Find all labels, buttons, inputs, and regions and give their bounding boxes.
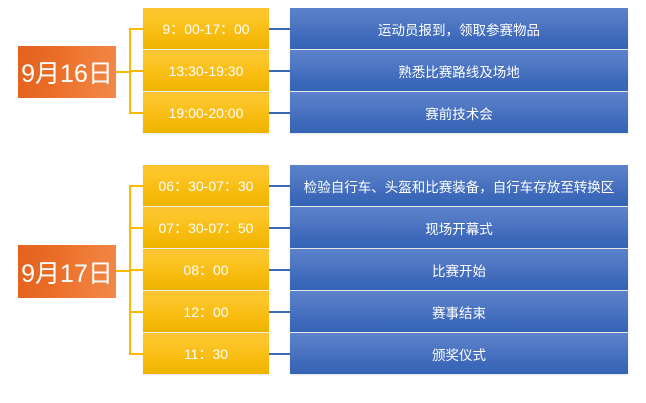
event-label: 比赛开始	[432, 260, 486, 280]
event-box[interactable]: 现场开幕式	[290, 207, 628, 248]
time-box[interactable]: 11：30	[143, 333, 269, 374]
time-label: 07：30-07：50	[159, 218, 254, 238]
event-box[interactable]: 赛事结束	[290, 291, 628, 332]
event-box[interactable]: 比赛开始	[290, 249, 628, 290]
time-label: 9：00-17：00	[162, 19, 249, 39]
time-box[interactable]: 07：30-07：50	[143, 207, 269, 248]
date-box-group-2[interactable]: 9月17日	[18, 245, 116, 298]
time-label: 08：00	[183, 260, 228, 280]
event-box[interactable]: 运动员报到，领取参赛物品	[290, 8, 628, 49]
event-label: 现场开幕式	[425, 218, 493, 238]
event-label: 赛事结束	[432, 302, 486, 322]
event-label: 赛前技术会	[425, 103, 493, 123]
time-label: 06：30-07：30	[159, 176, 254, 196]
time-box[interactable]: 13:30-19:30	[143, 50, 269, 91]
event-label: 颁奖仪式	[432, 344, 486, 364]
row-connector	[269, 28, 290, 30]
event-box[interactable]: 赛前技术会	[290, 92, 628, 133]
event-box[interactable]: 颁奖仪式	[290, 333, 628, 374]
time-box[interactable]: 06：30-07：30	[143, 165, 269, 206]
date-box-group-1[interactable]: 9月16日	[18, 46, 116, 98]
row-connector	[269, 70, 290, 72]
bracket-group-2	[129, 185, 144, 355]
time-box[interactable]: 12：00	[143, 291, 269, 332]
row-connector	[269, 112, 290, 114]
row-connector	[269, 185, 290, 187]
bracket-group-1	[129, 28, 144, 114]
row-connector	[269, 311, 290, 313]
schedule-diagram: 9月16日 9：00-17：00 运动员报到，领取参赛物品 13:30-19:3…	[0, 0, 646, 403]
bracket-stem-group-1	[116, 71, 129, 73]
time-label: 12：00	[183, 302, 228, 322]
time-box[interactable]: 9：00-17：00	[143, 8, 269, 49]
time-box[interactable]: 19:00-20:00	[143, 92, 269, 133]
event-label: 检验自行车、头盔和比赛装备，自行车存放至转换区	[304, 176, 615, 196]
row-connector	[269, 353, 290, 355]
date-label: 9月16日	[21, 54, 113, 90]
time-label: 13:30-19:30	[169, 63, 244, 79]
bracket-stem-group-2	[116, 270, 129, 272]
time-label: 19:00-20:00	[169, 105, 244, 121]
date-label: 9月17日	[21, 254, 113, 290]
row-connector	[269, 269, 290, 271]
event-label: 运动员报到，领取参赛物品	[378, 19, 540, 39]
event-box[interactable]: 检验自行车、头盔和比赛装备，自行车存放至转换区	[290, 165, 628, 206]
event-label: 熟悉比赛路线及场地	[398, 61, 520, 81]
time-label: 11：30	[184, 344, 228, 364]
event-box[interactable]: 熟悉比赛路线及场地	[290, 50, 628, 91]
row-connector	[269, 227, 290, 229]
time-box[interactable]: 08：00	[143, 249, 269, 290]
